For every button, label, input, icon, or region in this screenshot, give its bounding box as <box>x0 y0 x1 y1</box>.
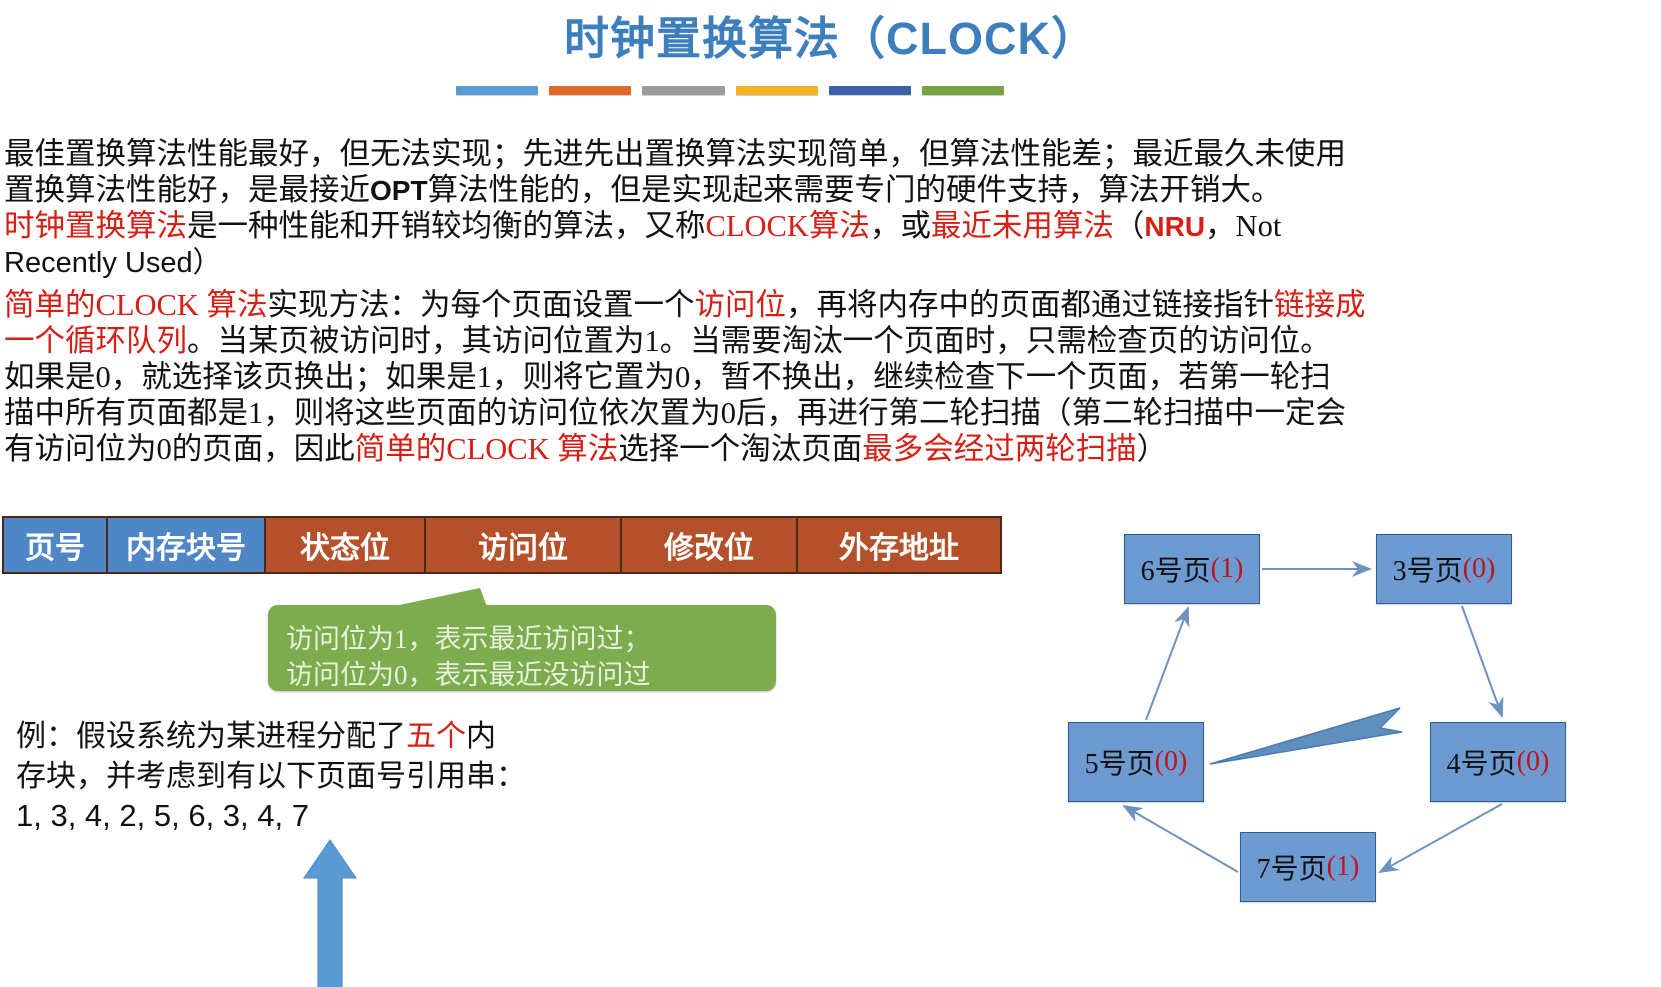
slide-canvas: 时钟置换算法（CLOCK） 最佳置换算法性能最好，但无法实现；先进先出置换算法实… <box>0 0 1661 987</box>
paragraph-clock-detail: 简单的CLOCK 算法实现方法：为每个页面设置一个访问位，再将内存中的页面都通过… <box>4 287 1656 467</box>
title-rule-seg-blue-light <box>456 86 538 95</box>
edge-3-to-4 <box>1462 606 1502 716</box>
clock-hand-pointer-icon <box>1210 708 1402 764</box>
table-header-cell-3: 访问位 <box>426 518 622 572</box>
example-text-b: 内 <box>466 720 496 753</box>
term-two-scans: 最多会经过两轮扫描 <box>862 432 1137 466</box>
term-nru: NRU <box>1144 211 1205 242</box>
term-access-bit: 访问位 <box>695 288 787 322</box>
callout-line-2: 访问位为0，表示最近没访问过 <box>286 653 651 692</box>
table-header-cell-2: 状态位 <box>266 518 426 572</box>
title-rule-seg-green <box>922 86 1004 95</box>
clock-circular-queue-diagram: 6号页(1) 3号页(0) 4号页(0) 7号页(1) 5号页(0) <box>1050 500 1661 920</box>
node-page5[interactable]: 5号页(0) <box>1068 722 1204 802</box>
reference-string: 1, 3, 4, 2, 5, 6, 3, 4, 7 <box>16 798 309 834</box>
detail-text-7: 选择一个淘汰页面 <box>618 432 862 466</box>
node-page4-label: 4号页 <box>1447 742 1517 782</box>
example-text-a: 例：假设系统为某进程分配了 <box>16 720 406 753</box>
intro-line1: 最佳置换算法性能最好，但无法实现；先进先出置换算法实现简单，但算法性能差；最近最… <box>4 137 1346 171</box>
node-page5-label: 5号页 <box>1085 742 1155 782</box>
title-rule-seg-amber <box>736 86 818 95</box>
node-page7-bit: (1) <box>1327 851 1360 883</box>
node-page3-bit: (0) <box>1463 553 1496 585</box>
detail-text-2: ，再将内存中的页面都通过链接指针 <box>786 288 1274 322</box>
node-page7[interactable]: 7号页(1) <box>1240 832 1376 902</box>
title-underline-bars <box>456 86 1004 98</box>
table-header-cell-0: 页号 <box>4 518 108 572</box>
callout-body: 访问位为1，表示最近访问过； 访问位为0，表示最近没访问过 <box>268 605 776 691</box>
page-title: 时钟置换算法（CLOCK） <box>0 14 1661 64</box>
node-page4[interactable]: 4号页(0) <box>1430 722 1566 802</box>
callout-line-1: 访问位为1，表示最近访问过； <box>286 617 651 656</box>
intro-opt: OPT <box>370 175 428 206</box>
term-nru-cn: 最近未用算法 <box>931 209 1114 243</box>
def-recently-used: Recently Used） <box>4 247 222 279</box>
node-page7-label: 7号页 <box>1257 847 1327 887</box>
title-rule-seg-gray <box>642 86 724 95</box>
detail-text-6: 有访问位为0的页面，因此 <box>4 432 355 466</box>
page-table-entry-header: 页号内存块号状态位访问位修改位外存地址 <box>2 516 1002 574</box>
term-link-into: 链接成 <box>1274 288 1366 322</box>
term-simple-clock-1: 简单的CLOCK 算法 <box>4 288 268 322</box>
term-circular-queue: 一个循环队列 <box>4 324 187 358</box>
table-header-cell-1: 内存块号 <box>108 518 266 572</box>
title-rule-seg-orange <box>549 86 631 95</box>
detail-text-3: 。当某页被访问时，其访问位置为1。当需要淘汰一个页面时，只需检查页的访问位。 <box>187 324 1331 358</box>
def-text-2: ，或 <box>870 209 931 243</box>
detail-text-1: 实现方法：为每个页面设置一个 <box>268 288 695 322</box>
intro-line2-b: 算法性能的，但是实现起来需要专门的硬件支持，算法开销大。 <box>428 173 1282 207</box>
intro-line2-a: 置换算法性能好，是最接近 <box>4 173 370 207</box>
detail-text-8: ） <box>1137 432 1168 466</box>
table-header-cell-5: 外存地址 <box>798 518 1000 572</box>
table-header-cell-4: 修改位 <box>622 518 798 572</box>
node-page3[interactable]: 3号页(0) <box>1376 534 1512 604</box>
paragraph-clock-def: 时钟置换算法是一种性能和开销较均衡的算法，又称CLOCK算法，或最近未用算法（N… <box>4 208 1656 281</box>
def-text-3: （ <box>1114 209 1145 243</box>
node-page6-bit: (1) <box>1211 553 1244 585</box>
edge-4-to-7 <box>1380 804 1502 872</box>
example-line-1: 例：假设系统为某进程分配了五个内 <box>16 718 496 756</box>
term-simple-clock-2: 简单的CLOCK 算法 <box>355 432 619 466</box>
edge-7-to-5 <box>1124 806 1238 872</box>
paragraph-intro: 最佳置换算法性能最好，但无法实现；先进先出置换算法实现简单，但算法性能差；最近最… <box>4 136 1656 209</box>
node-page4-bit: (0) <box>1517 746 1550 778</box>
node-page6-label: 6号页 <box>1141 549 1211 589</box>
term-clock-alias: CLOCK算法 <box>706 209 870 243</box>
edge-5-to-6 <box>1146 608 1188 720</box>
title-block: 时钟置换算法（CLOCK） <box>0 14 1661 64</box>
term-clock-algorithm: 时钟置换算法 <box>4 209 187 243</box>
node-page6[interactable]: 6号页(1) <box>1124 534 1260 604</box>
access-bit-callout: 访问位为1，表示最近访问过； 访问位为0，表示最近没访问过 <box>268 588 776 691</box>
title-rule-seg-blue-dark <box>829 86 911 95</box>
example-line-2: 存块，并考虑到有以下页面号引用串： <box>16 758 526 796</box>
node-page3-label: 3号页 <box>1393 549 1463 589</box>
detail-text-5: 描中所有页面都是1，则将这些页面的访问位依次置为0后，再进行第二轮扫描（第二轮扫… <box>4 396 1346 430</box>
example-five-blocks: 五个 <box>406 720 466 753</box>
node-page5-bit: (0) <box>1155 746 1188 778</box>
def-text-4: ，Not <box>1205 209 1281 243</box>
detail-text-4: 如果是0，就选择该页换出；如果是1，则将它置为0，暂不换出，继续检查下一个页面，… <box>4 360 1331 394</box>
def-text-1: 是一种性能和开销较均衡的算法，又称 <box>187 209 706 243</box>
up-arrow-icon <box>300 838 360 987</box>
